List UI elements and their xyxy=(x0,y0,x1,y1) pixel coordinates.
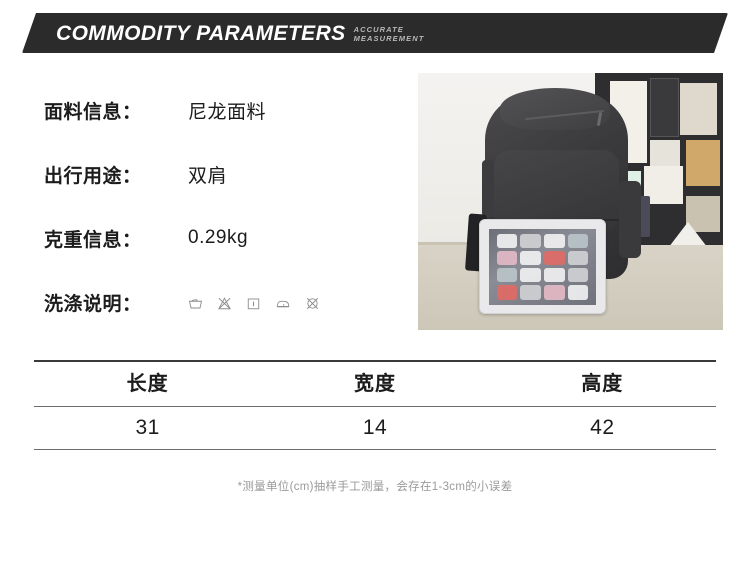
spec-label-washing: 洗涤说明： xyxy=(44,289,188,316)
tablet-screen xyxy=(489,229,597,305)
tablet-app-icon xyxy=(520,285,541,299)
pinboard-note xyxy=(650,78,679,137)
tablet-app-icon xyxy=(544,251,565,265)
spec-value-usage: 双肩 xyxy=(188,161,227,188)
specification-list: 面料信息： 尼龙面料 出行用途： 双肩 克重信息： 0.29kg 洗涤说明： xyxy=(44,78,384,334)
backpack-side-pocket-right xyxy=(619,181,640,258)
do-not-bleach-icon xyxy=(217,296,232,311)
spec-row-washing: 洗涤说明： xyxy=(44,270,384,334)
table-value-row: 31 14 42 xyxy=(34,407,716,449)
tablet-device xyxy=(479,219,606,314)
tablet-app-icon xyxy=(568,285,589,299)
banner-subtitle: ACCURATE MEASUREMENT xyxy=(354,23,425,43)
spec-row-usage: 出行用途： 双肩 xyxy=(44,142,384,206)
pinboard-note xyxy=(680,83,717,134)
table-rule-bottom xyxy=(34,449,716,450)
tablet-app-icon xyxy=(520,251,541,265)
banner-text-group: COMMODITY PARAMETERS ACCURATE MEASUREMEN… xyxy=(56,13,424,53)
backpack-top-flap xyxy=(500,88,610,129)
do-not-dry-clean-icon xyxy=(305,296,320,311)
tablet-app-icon xyxy=(568,251,589,265)
tablet-app-icon xyxy=(520,268,541,282)
tablet-app-icon xyxy=(568,268,589,282)
banner-subtitle-line1: ACCURATE xyxy=(354,25,425,34)
tablet-app-icon xyxy=(544,234,565,248)
measurement-disclaimer: *测量单位(cm)抽样手工测量，会存在1-3cm的小误差 xyxy=(0,478,750,494)
spec-value-weight: 0.29kg xyxy=(188,227,248,249)
backpack-side-pocket-left xyxy=(482,160,494,217)
tablet-app-icon xyxy=(544,285,565,299)
tablet-app-icon xyxy=(568,234,589,248)
hand-wash-icon xyxy=(188,296,203,311)
tablet-app-icon xyxy=(520,234,541,248)
spec-label-weight: 克重信息： xyxy=(44,225,188,252)
page-title: COMMODITY PARAMETERS xyxy=(56,23,346,44)
tablet-app-icon xyxy=(497,285,518,299)
spec-label-usage: 出行用途： xyxy=(44,161,188,188)
tablet-app-icon xyxy=(497,251,518,265)
tablet-app-icon xyxy=(544,268,565,282)
dimension-table: 长度 宽度 高度 31 14 42 xyxy=(34,360,716,450)
table-value-width: 14 xyxy=(261,407,488,449)
product-photo xyxy=(418,73,723,330)
spec-value-fabric: 尼龙面料 xyxy=(188,97,266,124)
care-icon-group xyxy=(188,294,320,311)
table-value-length: 31 xyxy=(34,407,261,449)
table-header-height: 高度 xyxy=(489,362,716,406)
tumble-dry-icon xyxy=(246,296,261,311)
tablet-app-icon xyxy=(497,234,518,248)
iron-icon xyxy=(275,296,291,311)
spec-row-fabric: 面料信息： 尼龙面料 xyxy=(44,78,384,142)
table-header-row: 长度 宽度 高度 xyxy=(34,362,716,406)
table-header-length: 长度 xyxy=(34,362,261,406)
spec-row-weight: 克重信息： 0.29kg xyxy=(44,206,384,270)
banner-subtitle-line2: MEASUREMENT xyxy=(354,34,425,43)
spec-label-fabric: 面料信息： xyxy=(44,97,188,124)
tablet-app-icon xyxy=(497,268,518,282)
pinboard-note xyxy=(686,140,720,186)
table-header-width: 宽度 xyxy=(261,362,488,406)
section-header-banner: COMMODITY PARAMETERS ACCURATE MEASUREMEN… xyxy=(0,13,750,53)
table-value-height: 42 xyxy=(489,407,716,449)
